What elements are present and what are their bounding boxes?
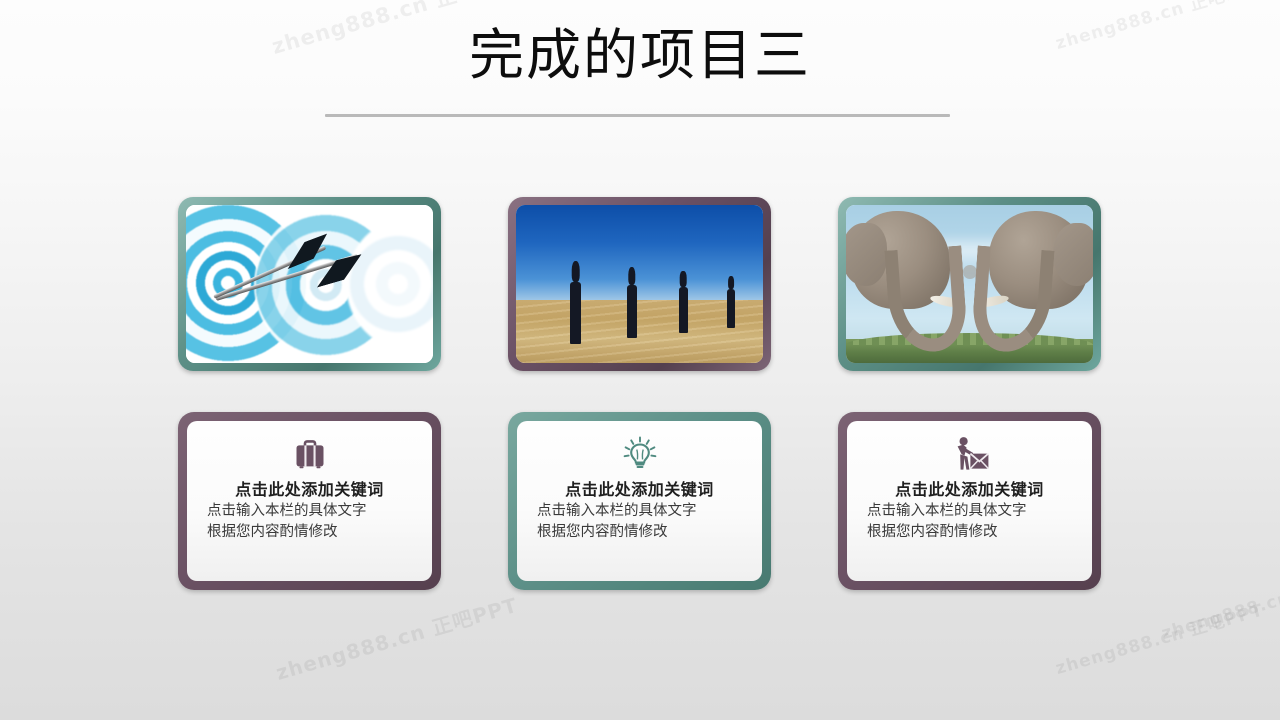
- info-card-1-body: 点击此处添加关键词 点击输入本栏的具体文字 根据您内容酌情修改: [187, 421, 432, 581]
- title-divider: [325, 114, 950, 117]
- photo-card-3[interactable]: [838, 197, 1101, 371]
- businessman-figure: [627, 285, 637, 338]
- info-card-3-line2: 根据您内容酌情修改: [861, 522, 1078, 543]
- info-card-1-title: 点击此处添加关键词: [235, 479, 384, 501]
- lightbulb-icon: [622, 433, 658, 475]
- info-card-2-title: 点击此处添加关键词: [565, 479, 714, 501]
- info-card-3-body: 点击此处添加关键词 点击输入本栏的具体文字 根据您内容酌情修改: [847, 421, 1092, 581]
- trunk-heart-tip: [963, 265, 977, 279]
- info-card-2-body: 点击此处添加关键词 点击输入本栏的具体文字 根据您内容酌情修改: [517, 421, 762, 581]
- page-title: 完成的项目三: [0, 22, 1280, 88]
- tree-line: [846, 339, 1093, 363]
- sky-region: [516, 205, 763, 300]
- photo-card-1[interactable]: [178, 197, 441, 371]
- elephants-heart-photo: [846, 205, 1093, 363]
- photo-card-2[interactable]: [508, 197, 771, 371]
- businessman-figure: [679, 287, 688, 333]
- info-card-1-line1: 点击输入本栏的具体文字: [201, 501, 418, 522]
- slide-canvas: zheng888.cn 正吧PPT zheng888.cn 正吧PPT zhen…: [0, 0, 1280, 720]
- info-card-3-line1: 点击输入本栏的具体文字: [861, 501, 1078, 522]
- info-card-1[interactable]: 点击此处添加关键词 点击输入本栏的具体文字 根据您内容酌情修改: [178, 412, 441, 590]
- info-card-3-title: 点击此处添加关键词: [895, 479, 1044, 501]
- mail-delivery-icon: [949, 433, 991, 475]
- elephants-heart-image: [846, 205, 1093, 363]
- info-card-2[interactable]: 点击此处添加关键词 点击输入本栏的具体文字 根据您内容酌情修改: [508, 412, 771, 590]
- businessmen-field-image: [516, 205, 763, 363]
- info-card-2-line1: 点击输入本栏的具体文字: [531, 501, 748, 522]
- briefcase-icon: [293, 433, 327, 475]
- archery-targets-photo: [186, 205, 433, 363]
- title-block: 完成的项目三: [0, 22, 1280, 88]
- watermark: zheng888.cn 正吧PPT: [272, 589, 521, 686]
- elephant-ear: [1053, 223, 1094, 286]
- info-card-2-line2: 根据您内容酌情修改: [531, 522, 748, 543]
- info-card-1-line2: 根据您内容酌情修改: [201, 522, 418, 543]
- archery-targets-image: [186, 205, 433, 363]
- businessman-figure: [727, 289, 735, 328]
- field-region: [516, 300, 763, 363]
- elephant-ear: [846, 223, 887, 286]
- businessmen-field-photo: [516, 205, 763, 363]
- businessman-figure: [570, 282, 581, 344]
- info-card-3[interactable]: 点击此处添加关键词 点击输入本栏的具体文字 根据您内容酌情修改: [838, 412, 1101, 590]
